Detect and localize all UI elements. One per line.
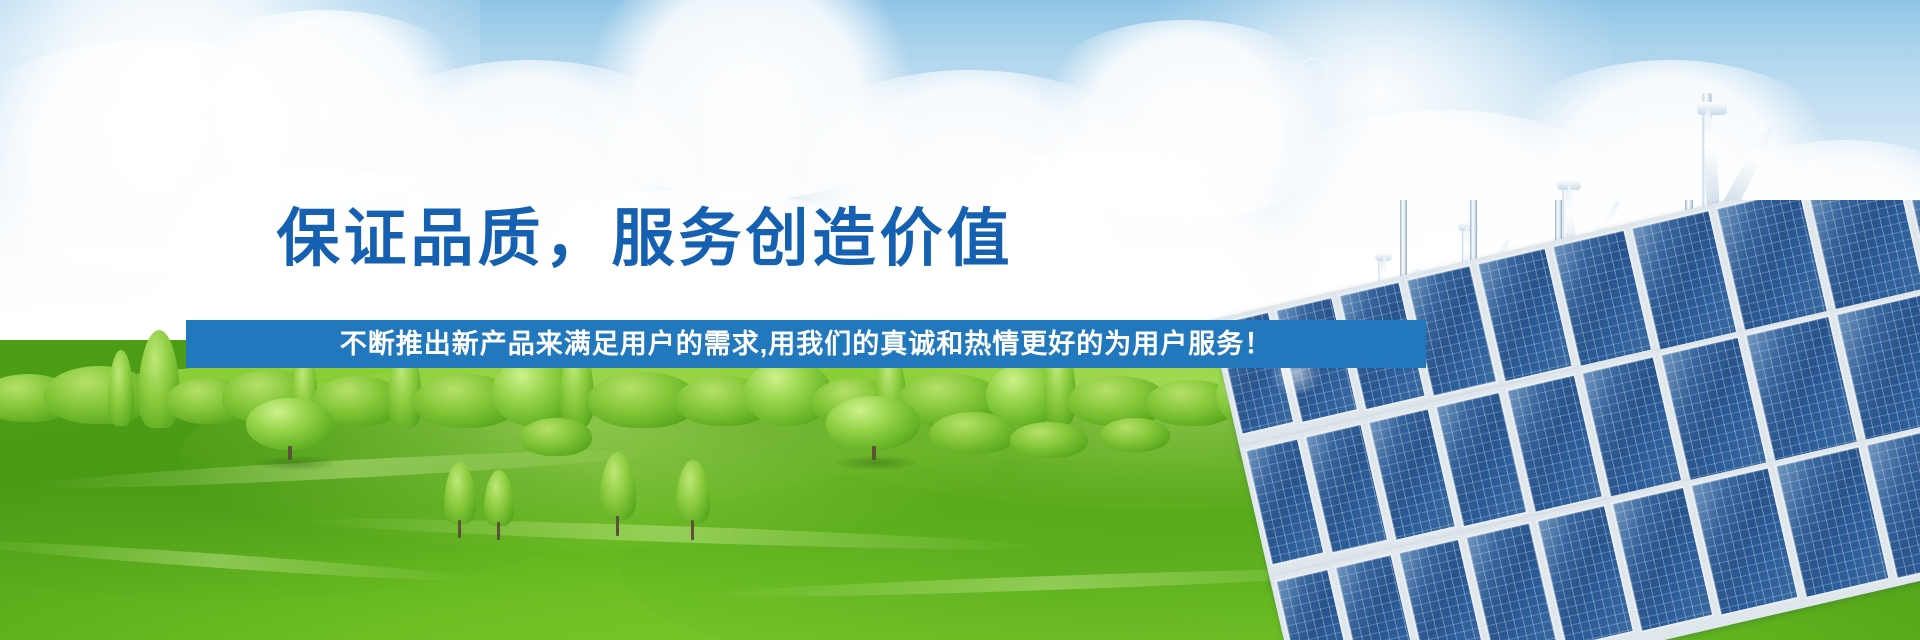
sapling-1 xyxy=(440,462,480,536)
subtitle-text: 不断推出新产品来满足用户的需求,用我们的真诚和热情更好的为用户服务！ xyxy=(340,331,1273,358)
sapling-canopy xyxy=(676,460,710,524)
tree-shadow-left xyxy=(256,456,334,470)
sapling-canopy xyxy=(484,470,514,526)
sapling-trunk xyxy=(616,516,619,536)
foreground-bush-1 xyxy=(520,418,592,456)
sapling-canopy xyxy=(444,462,476,524)
subtitle-bar: 不断推出新产品来满足用户的需求,用我们的真诚和热情更好的为用户服务！ xyxy=(186,320,1426,368)
foreground-bush-3 xyxy=(1010,422,1088,458)
sapling-4 xyxy=(672,460,716,540)
sapling-trunk xyxy=(691,520,694,540)
tree-canopy xyxy=(826,396,920,450)
hero-banner: 保证品质，服务创造价值 不断推出新产品来满足用户的需求,用我们的真诚和热情更好的… xyxy=(0,0,1920,640)
tree-cypress xyxy=(108,350,134,426)
sapling-trunk xyxy=(497,522,500,540)
tree-canopy xyxy=(246,398,334,450)
turbine-hub xyxy=(1697,102,1727,115)
foreground-bush-2 xyxy=(930,412,1016,454)
tree-shadow-right xyxy=(836,456,918,470)
sapling-3 xyxy=(596,452,640,534)
solar-panel-grid xyxy=(1210,200,1920,640)
sapling-2 xyxy=(480,470,520,540)
foreground-tree-right xyxy=(826,396,922,458)
sapling-canopy xyxy=(600,452,636,520)
page-title: 保证品质，服务创造价值 xyxy=(0,208,1290,271)
foreground-tree-left xyxy=(246,398,336,458)
sapling-trunk xyxy=(458,520,461,538)
